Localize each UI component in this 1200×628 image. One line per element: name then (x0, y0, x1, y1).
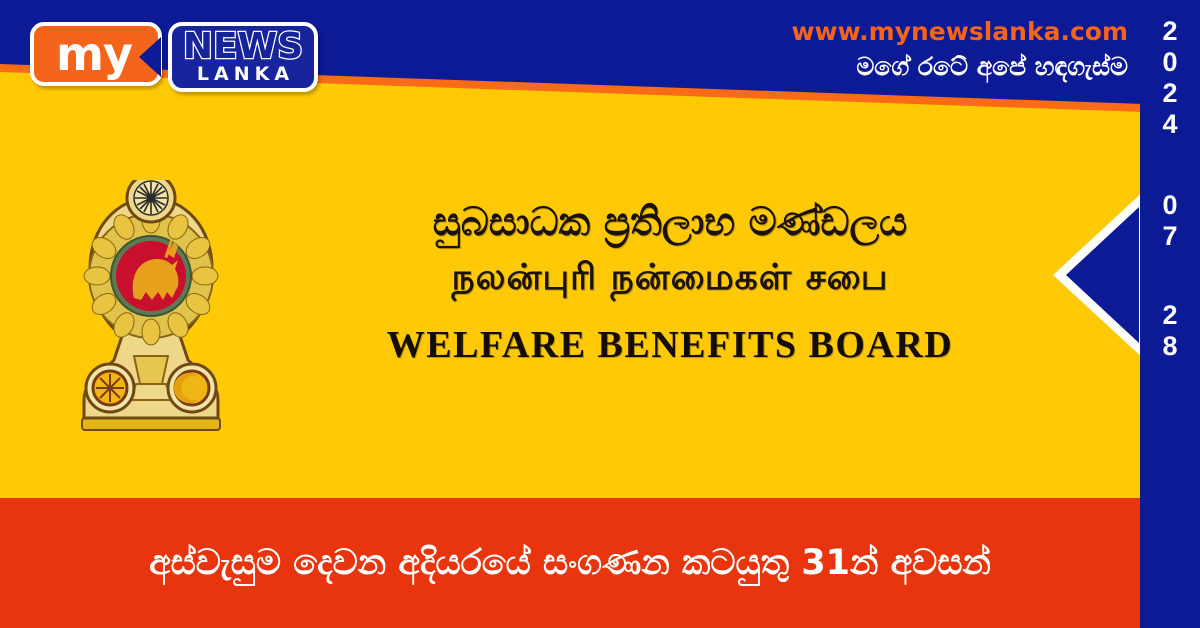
logo-news-badge: NEWS LANKA (168, 22, 318, 92)
site-tagline: මගේ රටේ අපේ හඳගැස්ම (791, 50, 1128, 84)
date-day-digit-1: 2 (1140, 300, 1200, 331)
left-arrow-fill (1066, 207, 1139, 343)
logo-my-badge: my (30, 22, 162, 86)
date-year-digit-3: 2 (1140, 78, 1200, 109)
logo-news-text: NEWS (183, 30, 303, 63)
headline-text: අස්වැසුම දෙවන අදියරයේ සංගණන කටයුතු 31න් … (135, 540, 1005, 586)
logo-caret-icon (139, 37, 161, 77)
date-day: 2 8 (1140, 300, 1200, 362)
board-name-block: සුබසාධක ප්‍රතිලාභ මණ්ඩලය நலன்புரி நன்மைக… (285, 196, 1055, 372)
board-name-english: WELFARE BENEFITS BOARD (285, 318, 1055, 372)
logo-lanka-text: LANKA (197, 64, 294, 84)
date-month-digit-2: 7 (1140, 221, 1200, 252)
date-year: 2 0 2 4 (1140, 16, 1200, 140)
mynewslanka-logo[interactable]: my NEWS LANKA (30, 22, 318, 94)
sri-lanka-national-emblem-icon (62, 180, 240, 442)
date-year-digit-1: 2 (1140, 16, 1200, 47)
board-name-tamil: நலன்புரி நன்மைகள் சபை (285, 250, 1055, 306)
header-right-block: www.mynewslanka.com මගේ රටේ අපේ හඳගැස්ම (791, 16, 1128, 84)
site-url[interactable]: www.mynewslanka.com (791, 16, 1128, 48)
date-year-digit-2: 0 (1140, 47, 1200, 78)
logo-my-text: my (56, 31, 132, 77)
date-month: 0 7 (1140, 190, 1200, 252)
board-name-sinhala: සුබසාධක ප්‍රතිලාභ මණ්ඩලය (285, 196, 1055, 250)
date-year-digit-4: 4 (1140, 109, 1200, 140)
date-strip: 2 0 2 4 0 7 2 8 (1140, 0, 1200, 628)
news-banner: my NEWS LANKA www.mynewslanka.com මගේ රට… (0, 0, 1200, 628)
headline-bar: අස්වැසුම දෙවන අදියරයේ සංගණන කටයුතු 31න් … (0, 498, 1140, 628)
date-month-digit-1: 0 (1140, 190, 1200, 221)
date-day-digit-2: 8 (1140, 331, 1200, 362)
left-arrow-icon (1053, 190, 1145, 360)
